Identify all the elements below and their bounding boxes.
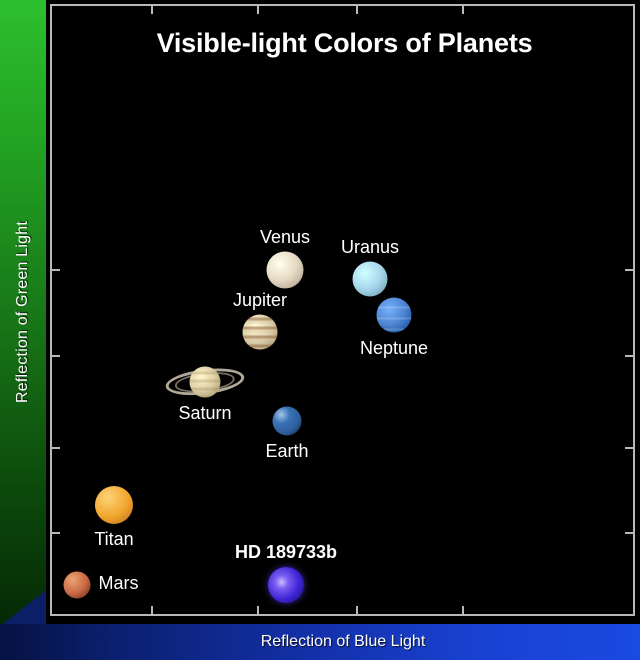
y-axis-tick-left-3 (52, 269, 60, 271)
planet-label-venus: Venus (260, 227, 310, 248)
axis-corner-miter (0, 590, 46, 626)
y-axis-tick-left-0 (52, 532, 60, 534)
chart-canvas: Reflection of Green Light Reflection of … (0, 0, 640, 660)
planet-label-jupiter: Jupiter (233, 290, 287, 311)
x-axis-tick-top-0 (151, 6, 153, 14)
x-axis-color-bar (0, 624, 640, 660)
y-axis-tick-right-1 (625, 447, 633, 449)
x-axis-tick-top-1 (257, 6, 259, 14)
plot-area: Visible-light Colors of Planets VenusUra… (50, 4, 635, 616)
y-axis-tick-left-2 (52, 355, 60, 357)
planet-label-titan: Titan (94, 529, 133, 550)
planet-disc-titan (95, 486, 133, 524)
planet-disc-uranus (353, 262, 388, 297)
chart-title: Visible-light Colors of Planets (52, 28, 637, 59)
y-axis-tick-right-2 (625, 355, 633, 357)
y-axis-color-bar (0, 0, 46, 624)
x-axis-tick-bottom-3 (462, 606, 464, 614)
x-axis-tick-top-2 (356, 6, 358, 14)
planet-disc-hd (268, 567, 304, 603)
x-axis-tick-bottom-1 (257, 606, 259, 614)
saturn-bands (190, 367, 221, 398)
planet-disc-venus (267, 252, 304, 289)
x-axis-tick-top-3 (462, 6, 464, 14)
y-axis-tick-right-0 (625, 532, 633, 534)
planet-label-uranus: Uranus (341, 237, 399, 258)
x-axis-tick-bottom-2 (356, 606, 358, 614)
y-axis-tick-right-3 (625, 269, 633, 271)
planet-label-hd: HD 189733b (235, 542, 337, 563)
planet-disc-mars (64, 572, 91, 599)
planet-label-earth: Earth (265, 441, 308, 462)
x-axis-tick-bottom-0 (151, 606, 153, 614)
planet-label-saturn: Saturn (178, 403, 231, 424)
planet-label-mars: Mars (99, 573, 139, 594)
neptune-bands (377, 298, 412, 333)
planet-disc-earth (273, 407, 302, 436)
y-axis-tick-left-1 (52, 447, 60, 449)
planet-label-neptune: Neptune (360, 338, 428, 359)
jupiter-bands (243, 315, 278, 350)
